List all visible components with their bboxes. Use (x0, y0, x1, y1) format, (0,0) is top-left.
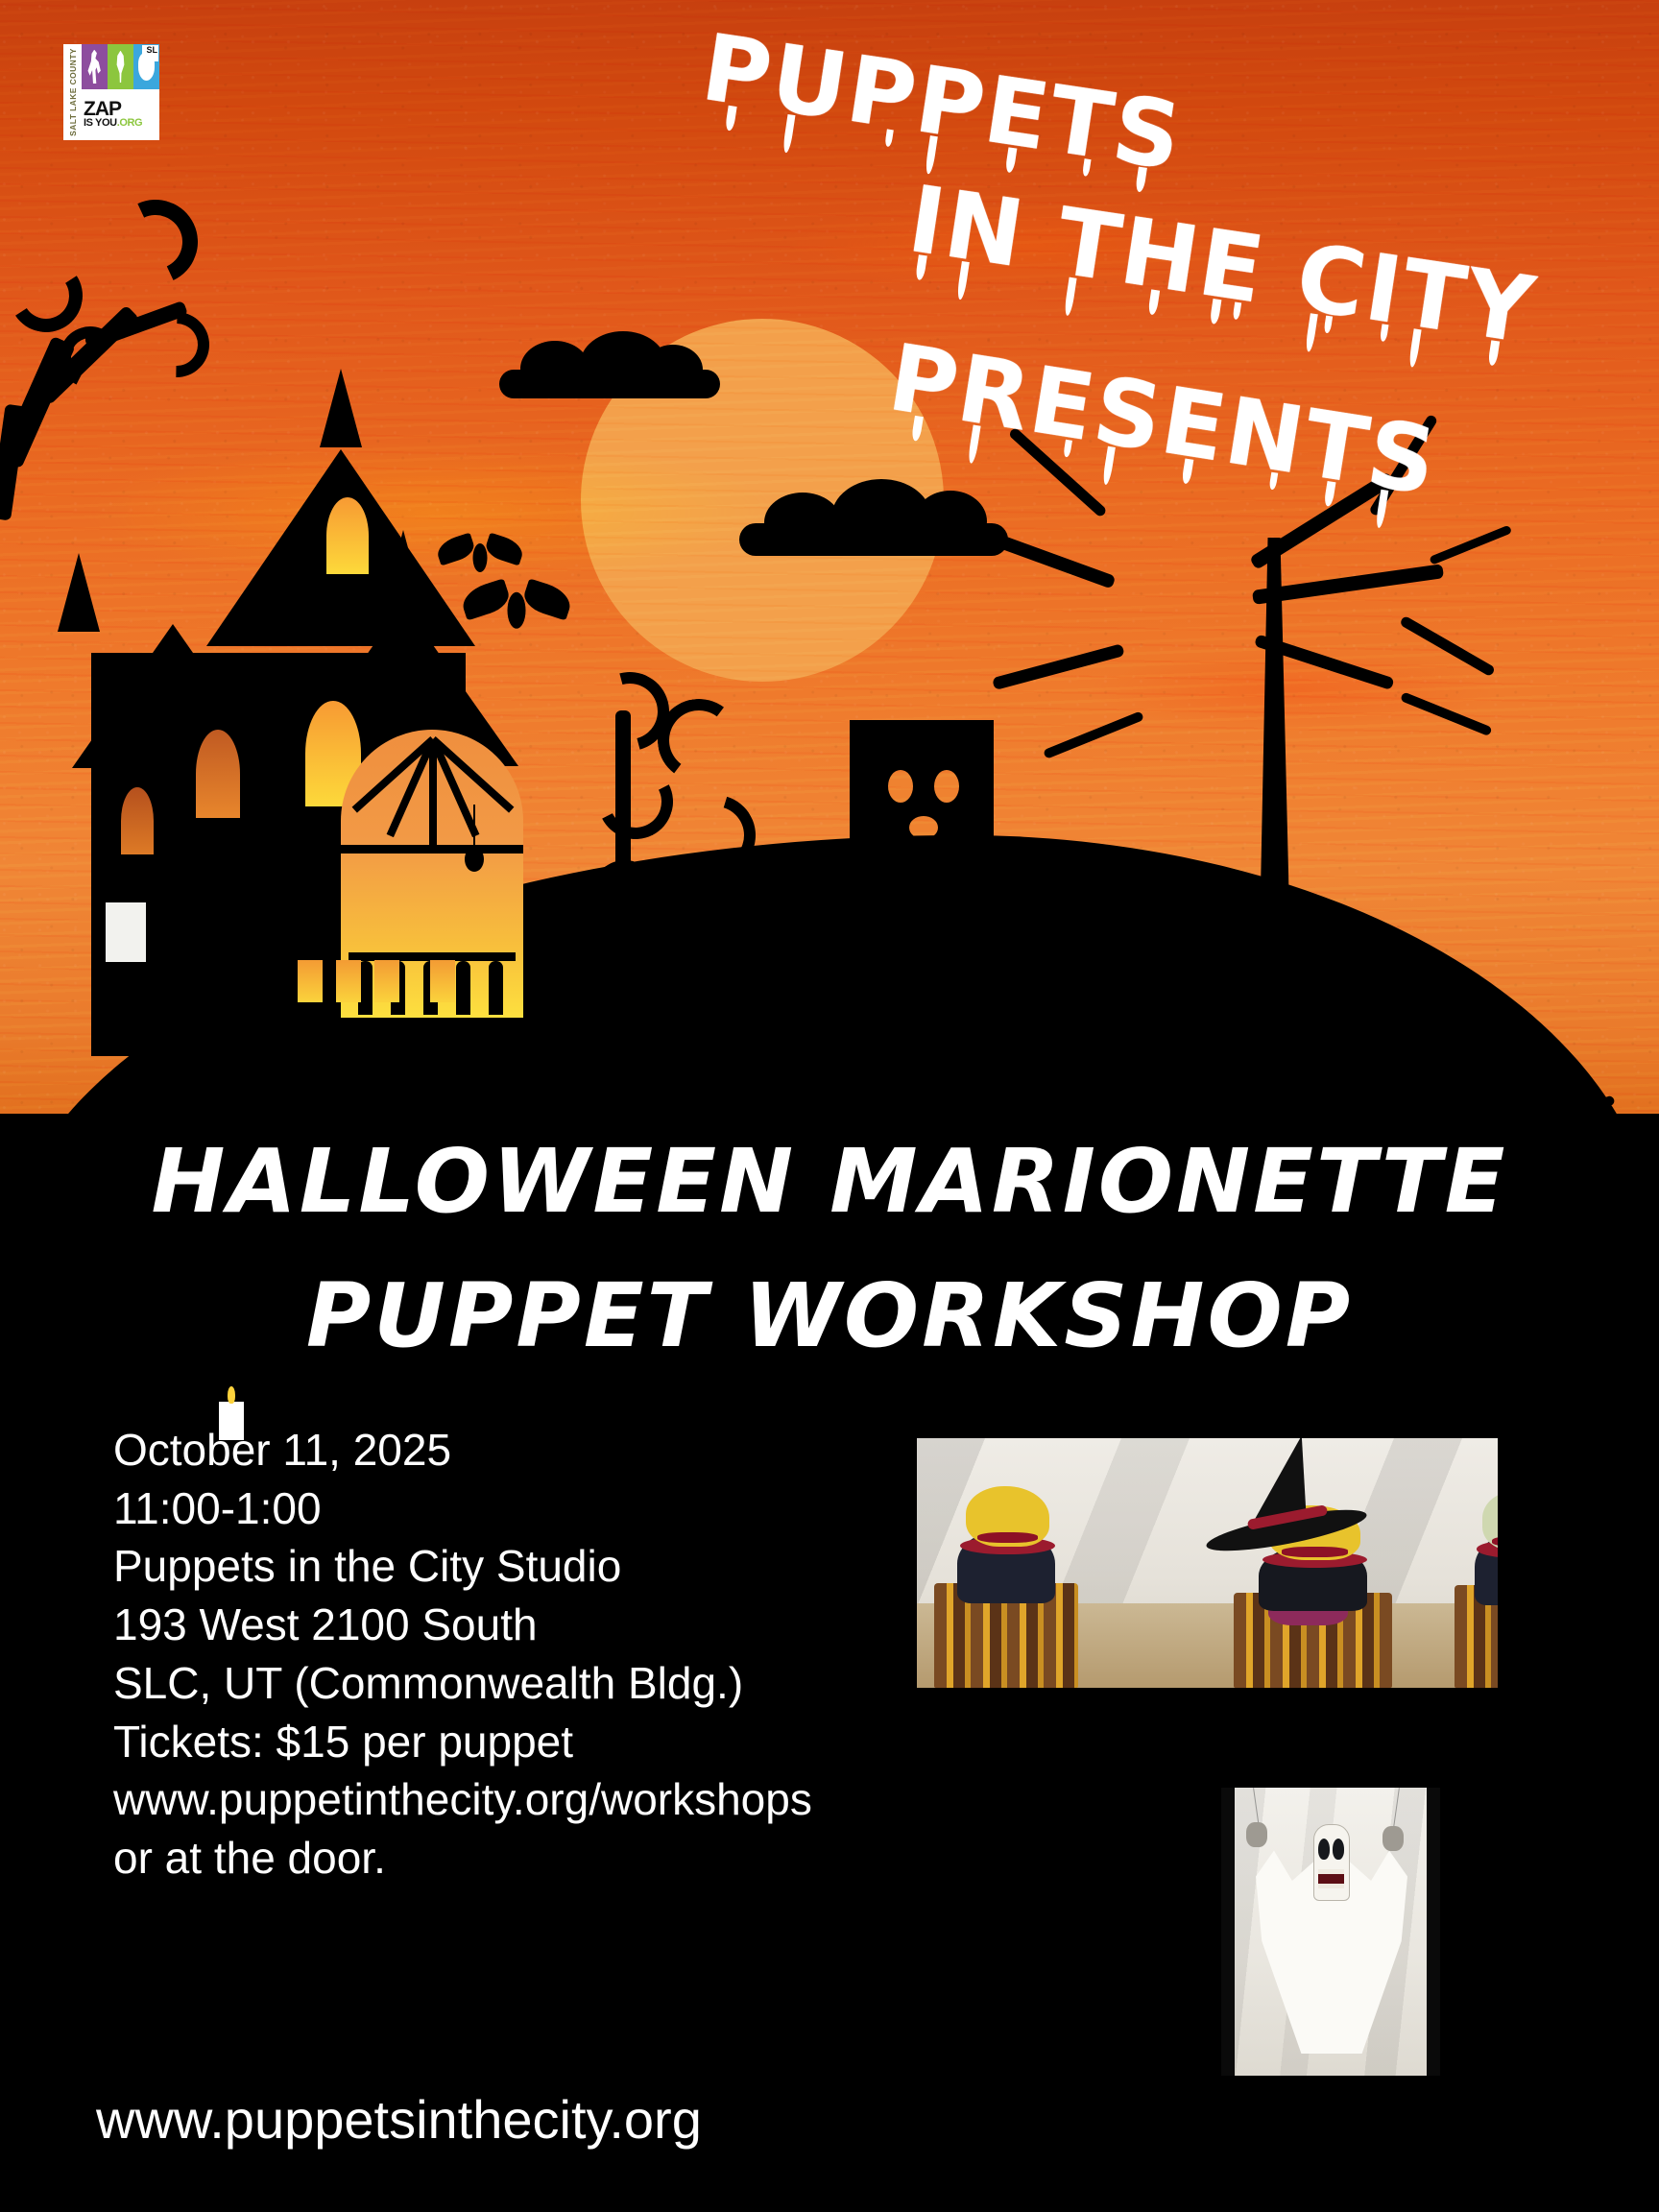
moon (581, 319, 944, 682)
headline-line-2: PUPPET WORKSHOP (0, 1272, 1659, 1360)
house-spire (320, 369, 362, 447)
candle-window (106, 902, 146, 962)
title-char: N (939, 179, 1031, 281)
house-spire (58, 553, 100, 632)
house-door (173, 950, 276, 1056)
marionette-puppet (934, 1486, 1078, 1688)
lit-window (196, 730, 240, 818)
runner-icon (82, 44, 108, 89)
title-char: S (1361, 407, 1443, 509)
title-char: U (765, 32, 854, 134)
lit-window (121, 787, 154, 854)
title-char: H (1115, 204, 1207, 307)
haunted-house (0, 413, 595, 1085)
event-detail-line: SLC, UT (Commonwealth Bldg.) (113, 1654, 812, 1713)
title-char: S (1107, 83, 1189, 183)
event-details: October 11, 202511:00-1:00Puppets in the… (113, 1421, 812, 1887)
marionette-photo (917, 1438, 1498, 1688)
zap-tagline-prefix: IS YOU (84, 117, 117, 129)
zap-tagline-suffix: .ORG (117, 117, 143, 129)
zap-county-label: SALT LAKE COUNTY (68, 48, 78, 136)
event-detail-line: 11:00-1:00 (113, 1479, 812, 1538)
cloud (739, 523, 1008, 556)
ghost-puppet-hand (1382, 1826, 1404, 1851)
headline-line-1: HALLOWEEN MARIONETTE (0, 1138, 1659, 1226)
cloud (499, 370, 720, 398)
spider-icon (473, 805, 475, 849)
title-char: E (1193, 216, 1271, 317)
event-detail-line: or at the door. (113, 1829, 812, 1887)
footer-website[interactable]: www.puppetsinthecity.org (96, 2088, 702, 2151)
zap-wordmark: ZAP (84, 101, 159, 118)
sl-mark-text: SL (146, 45, 157, 55)
event-detail-line: www.puppetinthecity.org/workshops (113, 1770, 812, 1829)
title-char: N (1219, 384, 1311, 488)
event-detail-line: Tickets: $15 per puppet (113, 1713, 812, 1771)
ghost-puppet-hand (1246, 1822, 1267, 1847)
zap-logo-vertical-text: SALT LAKE COUNTY (63, 44, 82, 140)
zap-logo[interactable]: SALT LAKE COUNTY ZAP IS YOU.ORG SL (63, 44, 159, 140)
ghost-puppet-face (1313, 1824, 1350, 1901)
poster: SALT LAKE COUNTY ZAP IS YOU.ORG SL PUPPE… (0, 0, 1659, 2212)
zap-tagline: IS YOU.ORG (84, 118, 159, 129)
leaf-icon (108, 44, 133, 89)
event-detail-line: 193 West 2100 South (113, 1596, 812, 1654)
event-detail-line: Puppets in the City Studio (113, 1537, 812, 1596)
event-detail-line: October 11, 2025 (113, 1421, 812, 1479)
witch-hat-icon (1205, 1444, 1368, 1550)
ghost-puppet-photo (1221, 1788, 1440, 2076)
marionette-puppet (1455, 1491, 1498, 1688)
lit-window (326, 497, 369, 574)
title-char: Y (1459, 256, 1541, 358)
